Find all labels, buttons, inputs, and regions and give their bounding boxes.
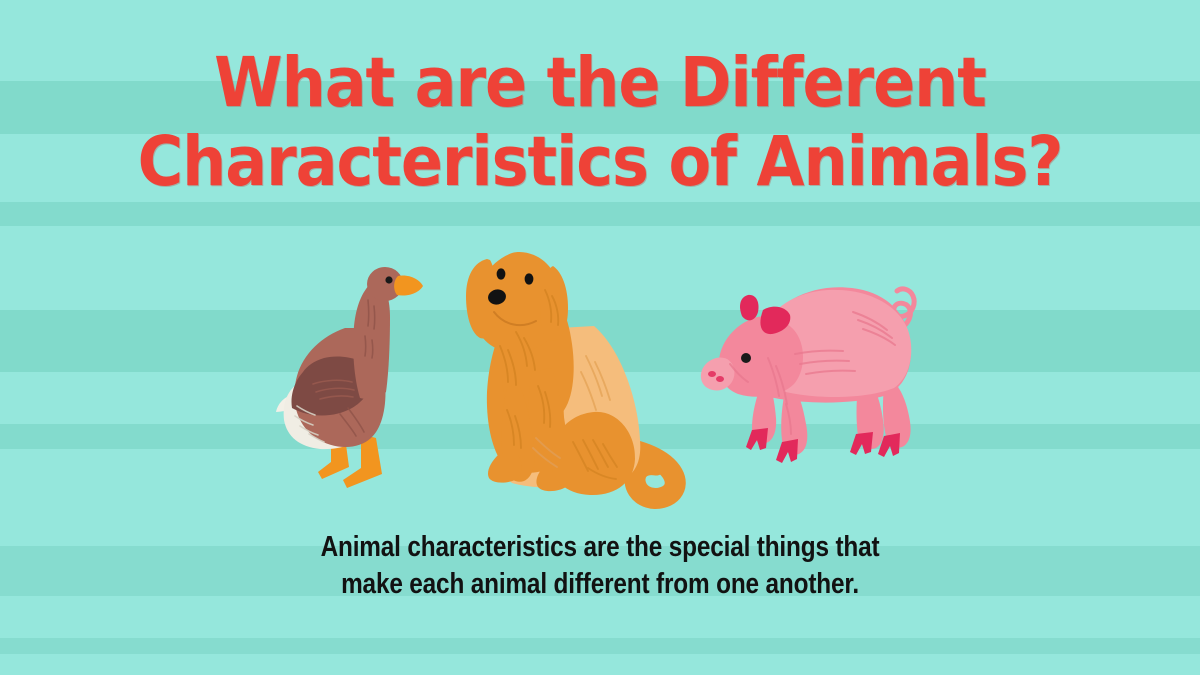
slide-canvas: What are the Different Characteristics o… [0, 0, 1200, 675]
page-title: What are the Different Characteristics o… [0, 44, 1200, 202]
background-stripe [0, 202, 1200, 226]
background-stripe [0, 638, 1200, 654]
background-stripe [0, 226, 1200, 310]
title-line-2: Characteristics of Animals? [60, 123, 1140, 202]
page-subtitle: Animal characteristics are the special t… [0, 529, 1200, 603]
subtitle-line-2: make each animal different from one anot… [96, 566, 1104, 603]
background-stripe [0, 654, 1200, 675]
subtitle-line-1: Animal characteristics are the special t… [96, 529, 1104, 566]
title-line-1: What are the Different [60, 44, 1140, 123]
